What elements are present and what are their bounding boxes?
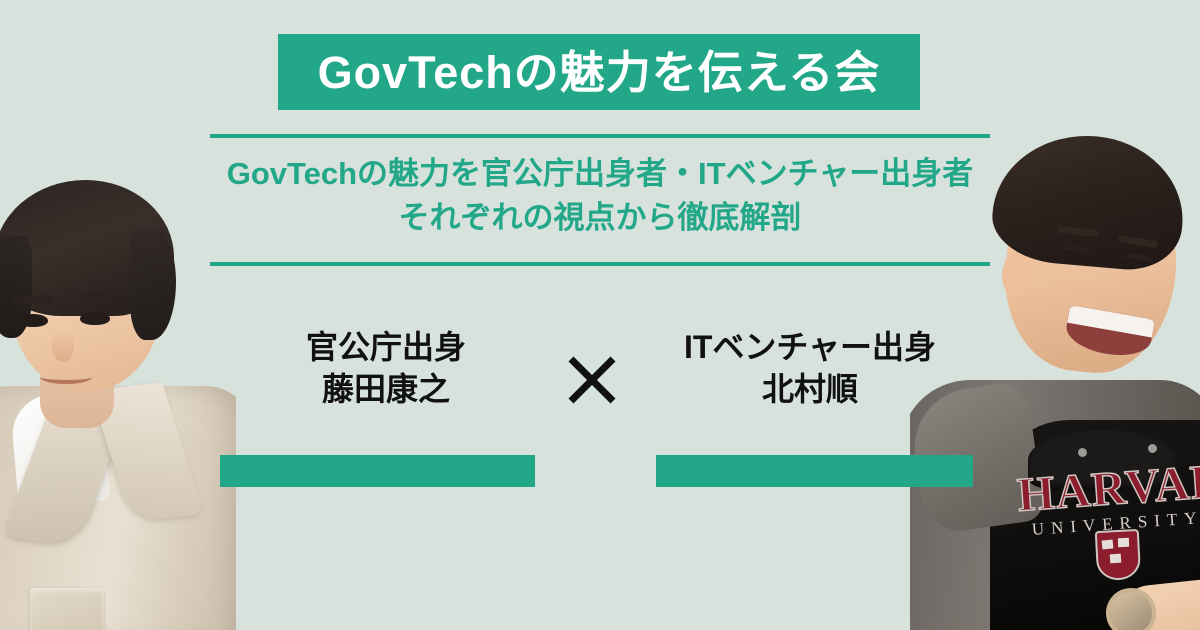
speaker-left-name: 藤田康之 [236,368,536,410]
page-title: GovTechの魅力を伝える会 [318,50,881,95]
speaker-block-right: ITベンチャー出身 北村順 [660,326,960,410]
subtitle: GovTechの魅力を官公庁出身者・ITベンチャー出身者 それぞれの視点から徹底… [180,152,1020,240]
subtitle-line-2: それぞれの視点から徹底解剖 [180,196,1020,240]
divider-top [210,134,990,138]
speaker-left-role: 官公庁出身 [236,326,536,368]
speaker-block-left: 官公庁出身 藤田康之 [236,326,536,410]
poster-content: GovTechの魅力を伝える会 GovTechの魅力を官公庁出身者・ITベンチャ… [0,0,1200,630]
event-poster: HARVARD UNIVERSITY GovTechの魅力を伝える会 GovTe… [0,0,1200,630]
speaker-right-role: ITベンチャー出身 [660,326,960,368]
speaker-right-name: 北村順 [660,368,960,410]
accent-bar-left [220,455,535,487]
speakers-row: 官公庁出身 藤田康之 ITベンチャー出身 北村順 [200,326,1000,436]
accent-bar-right [656,455,973,487]
divider-bottom [210,262,990,266]
cross-icon [566,354,618,406]
subtitle-line-1: GovTechの魅力を官公庁出身者・ITベンチャー出身者 [180,152,1020,196]
title-banner: GovTechの魅力を伝える会 [278,34,920,110]
